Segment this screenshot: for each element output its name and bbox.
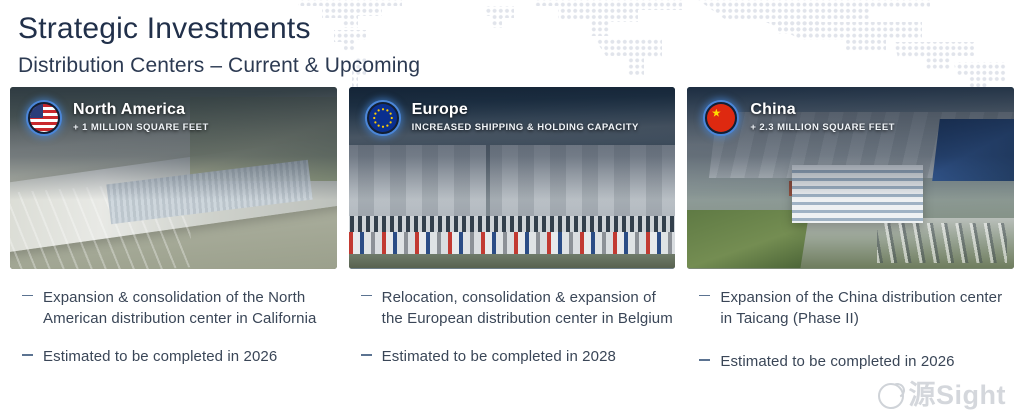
region-name: China (750, 101, 895, 119)
slide-header: Strategic Investments Distribution Cente… (0, 0, 1024, 78)
eu-flag-icon (365, 100, 401, 136)
bullet-column-europe: Relocation, consolidation & expansion of… (349, 287, 676, 373)
list-item: Expansion of the China distribution cent… (699, 287, 1014, 330)
watermark-text: 源Sight (909, 382, 1007, 409)
region-metric: INCREASED SHIPPING & HOLDING CAPACITY (412, 122, 639, 133)
list-item: Estimated to be completed in 2026 (22, 346, 337, 367)
region-metric: + 1 MILLION SQUARE FEET (73, 122, 209, 133)
list-item: Expansion & consolidation of the North A… (22, 287, 337, 330)
dash-bullet-icon (22, 287, 33, 304)
eu-stars-icon (369, 104, 397, 132)
dash-bullet-icon (22, 346, 33, 363)
region-name: North America (73, 101, 209, 119)
page-title: Strategic Investments (18, 12, 1024, 47)
us-flag-icon (26, 100, 62, 136)
region-name: Europe (412, 101, 639, 119)
bullet-column-row: Expansion & consolidation of the North A… (0, 269, 1024, 373)
region-card-row: North America + 1 MILLION SQUARE FEET (0, 78, 1024, 269)
dash-bullet-icon (699, 351, 710, 368)
region-card-north-america[interactable]: North America + 1 MILLION SQUARE FEET (10, 87, 337, 269)
bullet-text: Expansion & consolidation of the North A… (43, 287, 337, 330)
page-subtitle: Distribution Centers – Current & Upcomin… (18, 54, 1024, 78)
region-metric: + 2.3 MILLION SQUARE FEET (750, 122, 895, 133)
weibo-logo-icon (878, 383, 904, 409)
dash-bullet-icon (361, 287, 372, 304)
dash-bullet-icon (699, 287, 710, 304)
bullet-text: Estimated to be completed in 2026 (720, 351, 954, 372)
card-header-europe: Europe INCREASED SHIPPING & HOLDING CAPA… (365, 100, 664, 136)
bullet-column-north-america: Expansion & consolidation of the North A… (10, 287, 337, 373)
list-item: Estimated to be completed in 2028 (361, 346, 676, 367)
region-card-china[interactable]: China + 2.3 MILLION SQUARE FEET (687, 87, 1014, 269)
card-header-north-america: North America + 1 MILLION SQUARE FEET (26, 100, 325, 136)
bullet-text: Relocation, consolidation & expansion of… (382, 287, 676, 330)
cn-flag-icon (703, 100, 739, 136)
bullet-column-china: Expansion of the China distribution cent… (687, 287, 1014, 373)
bullet-text: Estimated to be completed in 2028 (382, 346, 616, 367)
watermark: 源Sight (878, 382, 1007, 409)
list-item: Estimated to be completed in 2026 (699, 351, 1014, 372)
card-header-china: China + 2.3 MILLION SQUARE FEET (703, 100, 1002, 136)
bullet-text: Expansion of the China distribution cent… (720, 287, 1014, 330)
region-card-europe[interactable]: Europe INCREASED SHIPPING & HOLDING CAPA… (349, 87, 676, 269)
dash-bullet-icon (361, 346, 372, 363)
list-item: Relocation, consolidation & expansion of… (361, 287, 676, 330)
bullet-text: Estimated to be completed in 2026 (43, 346, 277, 367)
